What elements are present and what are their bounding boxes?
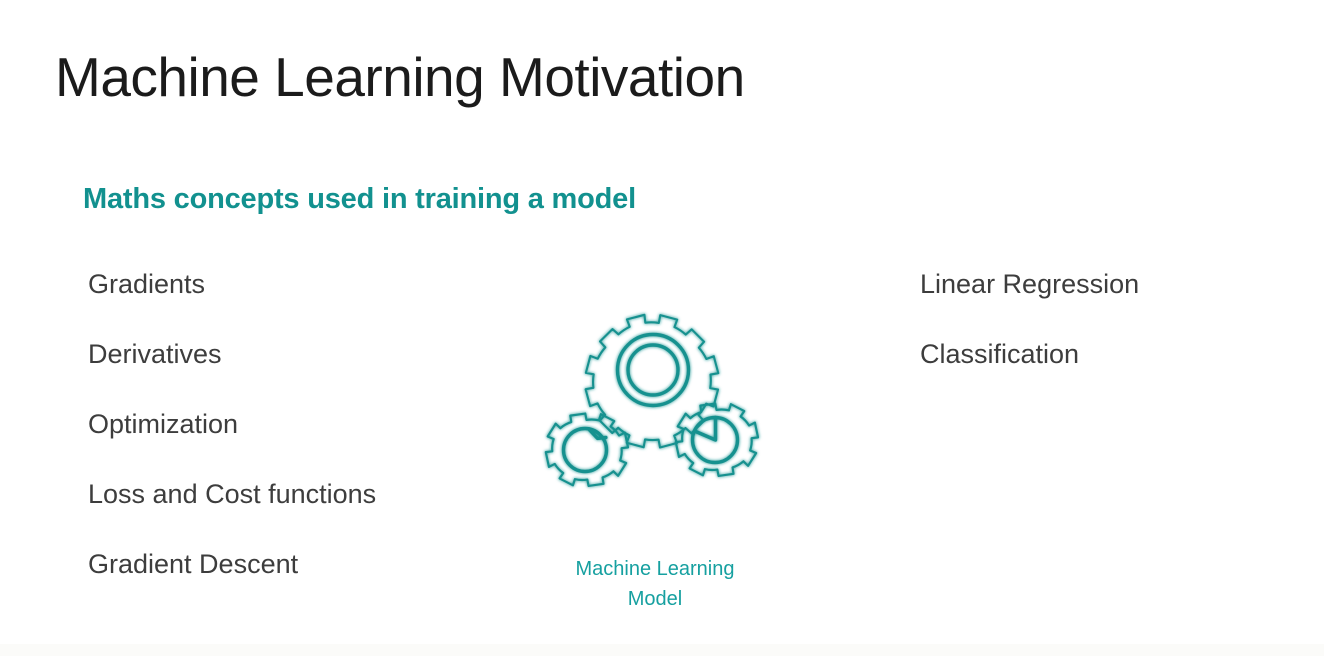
list-item: Linear Regression	[920, 271, 1280, 341]
figure-caption: Machine Learning Model	[519, 554, 791, 614]
figure-caption-line-2: Model	[519, 584, 791, 614]
bottom-band	[0, 644, 1324, 656]
page-title: Machine Learning Motivation	[55, 47, 745, 108]
small-gear-left	[546, 414, 628, 486]
list-item: Gradient Descent	[88, 551, 518, 621]
gears-icon	[519, 254, 791, 526]
small-gear-left-circle	[564, 429, 607, 472]
small-gear-left-body	[546, 414, 628, 486]
large-gear-inner-ring	[628, 345, 678, 395]
list-item: Derivatives	[88, 341, 518, 411]
small-gear-right	[676, 404, 758, 476]
list-item: Gradients	[88, 271, 518, 341]
list-item: Loss and Cost functions	[88, 481, 518, 551]
figure-caption-line-1: Machine Learning	[519, 554, 791, 584]
list-item: Optimization	[88, 411, 518, 481]
section-subtitle: Maths concepts used in training a model	[83, 183, 636, 216]
concepts-list: Gradients Derivatives Optimization Loss …	[88, 271, 518, 621]
slide-canvas: Machine Learning Motivation Maths concep…	[0, 0, 1324, 656]
large-gear	[586, 315, 719, 448]
list-item: Classification	[920, 341, 1280, 411]
machine-learning-model-figure: Machine Learning Model	[519, 254, 791, 614]
tasks-list: Linear Regression Classification	[920, 271, 1280, 411]
